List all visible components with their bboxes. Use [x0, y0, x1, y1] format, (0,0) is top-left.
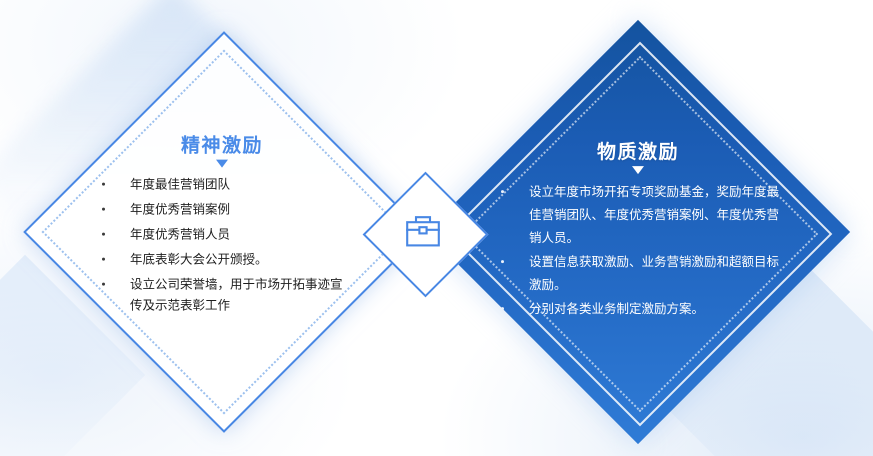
material-incentive-card[interactable]: 物质激励 设立年度市场开拓专项奖励基金，奖励年度最佳营销团队、年度优秀营销案例、… [428, 22, 848, 442]
list-item-label: 年度优秀营销案例 [130, 199, 348, 220]
bullet-dot-icon [501, 307, 504, 310]
list-item-label: 设立年度市场开拓专项奖励基金，奖励年度最佳营销团队、年度优秀营销案例、年度优秀营… [529, 181, 781, 250]
briefcase-icon [402, 211, 444, 253]
list-item: 设置信息获取激励、业务营销激励和超额目标激励。 [495, 251, 781, 297]
bullet-dot-icon [501, 260, 504, 263]
right-card-title: 物质激励 [495, 142, 781, 165]
left-card-title: 精神激励 [96, 136, 348, 159]
center-connector-node[interactable] [363, 172, 483, 292]
spiritual-incentive-card[interactable]: 精神激励 年度最佳营销团队 年度优秀营销案例 年度优秀营销人员 年底表彰大会 [24, 32, 420, 428]
bullet-dot-icon [102, 207, 105, 210]
list-item: 分别对各类业务制定激励方案。 [495, 298, 781, 321]
bullet-dot-icon [102, 257, 105, 260]
right-card-caret-icon [632, 166, 644, 174]
bullet-dot-icon [102, 282, 105, 285]
right-card-content: 物质激励 设立年度市场开拓专项奖励基金，奖励年度最佳营销团队、年度优秀营销案例、… [495, 142, 781, 322]
list-item-label: 年底表彰大会公开颁授。 [130, 249, 348, 270]
bullet-dot-icon [102, 232, 105, 235]
left-card-content: 精神激励 年度最佳营销团队 年度优秀营销案例 年度优秀营销人员 年底表彰大会 [96, 136, 348, 321]
list-item: 设立年度市场开拓专项奖励基金，奖励年度最佳营销团队、年度优秀营销案例、年度优秀营… [495, 181, 781, 250]
left-card-caret-icon [216, 159, 228, 167]
list-item-label: 年度优秀营销人员 [130, 224, 348, 245]
list-item: 年底表彰大会公开颁授。 [96, 249, 348, 270]
list-item-label: 年度最佳营销团队 [130, 174, 348, 195]
left-card-bullet-list: 年度最佳营销团队 年度优秀营销案例 年度优秀营销人员 年底表彰大会公开颁授。 设… [96, 174, 348, 316]
list-item: 年度优秀营销人员 [96, 224, 348, 245]
list-item-label: 设置信息获取激励、业务营销激励和超额目标激励。 [529, 251, 781, 297]
list-item: 设立公司荣誉墙，用于市场开拓事迹宣传及示范表彰工作 [96, 274, 348, 316]
list-item-label: 设立公司荣誉墙，用于市场开拓事迹宣传及示范表彰工作 [130, 274, 348, 316]
bullet-dot-icon [102, 182, 105, 185]
list-item: 年度优秀营销案例 [96, 199, 348, 220]
diagram-canvas: 精神激励 年度最佳营销团队 年度优秀营销案例 年度优秀营销人员 年底表彰大会 [0, 0, 873, 456]
right-card-bullet-list: 设立年度市场开拓专项奖励基金，奖励年度最佳营销团队、年度优秀营销案例、年度优秀营… [495, 181, 781, 321]
bullet-dot-icon [501, 190, 504, 193]
list-item: 年度最佳营销团队 [96, 174, 348, 195]
list-item-label: 分别对各类业务制定激励方案。 [529, 298, 781, 321]
